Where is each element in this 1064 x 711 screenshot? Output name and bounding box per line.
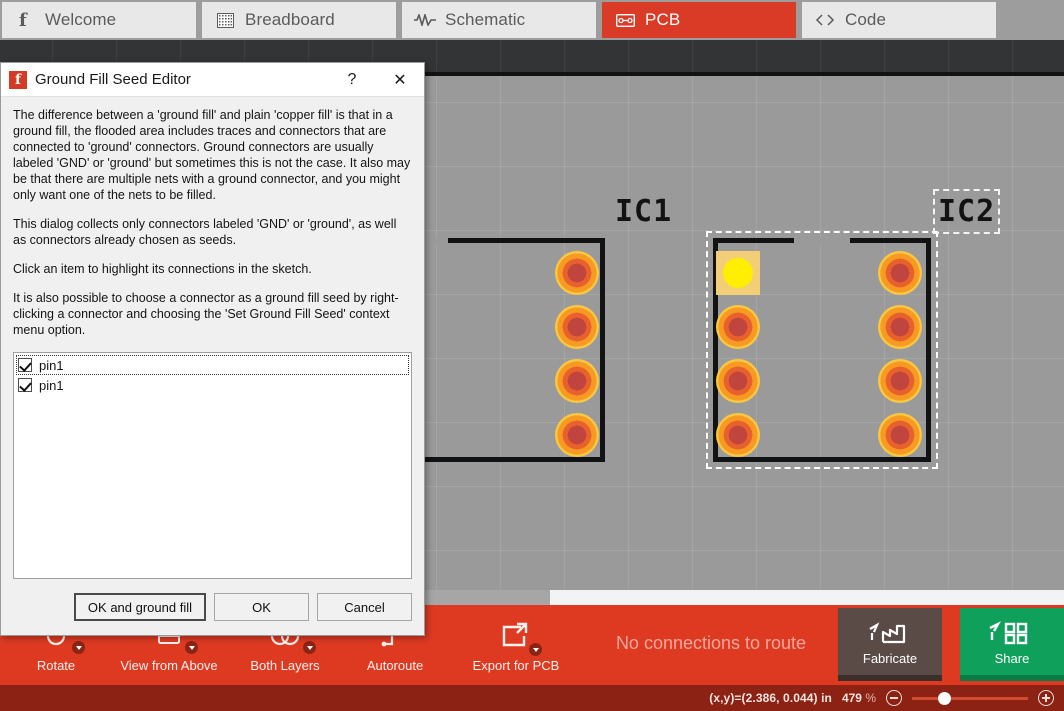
fabricate-button[interactable]: Fabricate	[838, 608, 942, 681]
zoom-slider[interactable]	[912, 690, 1028, 706]
ic2-pad-6[interactable]	[878, 305, 922, 349]
seed-checkbox[interactable]	[18, 358, 32, 372]
ic2-pad-4[interactable]	[716, 413, 760, 457]
tab-breadboard-label: Breadboard	[245, 10, 335, 30]
status-bar: (x,y)=(2.386, 0.044) in 479 %	[0, 685, 1064, 711]
code-angle-brackets-icon	[814, 11, 836, 29]
tab-schematic[interactable]: Schematic	[402, 2, 596, 38]
share-icon	[988, 615, 1036, 651]
dialog-paragraph-1: The difference between a 'ground fill' a…	[13, 107, 412, 203]
cancel-button[interactable]: Cancel	[317, 593, 412, 621]
share-label: Share	[995, 651, 1030, 666]
fabricate-label: Fabricate	[863, 651, 917, 666]
tool-rotate-label: Rotate	[37, 658, 75, 673]
part-ic2-label[interactable]: IC2	[938, 194, 995, 229]
seed-checkbox[interactable]	[18, 378, 32, 392]
breadboard-icon	[214, 11, 236, 29]
tab-pcb-label: PCB	[645, 10, 680, 30]
zoom-level: 479 %	[842, 691, 876, 705]
ic2-pad-7[interactable]	[878, 359, 922, 403]
schematic-waveform-icon	[414, 11, 436, 29]
ground-fill-seed-list[interactable]: pin1 pin1	[13, 352, 412, 579]
list-item[interactable]: pin1	[16, 355, 409, 375]
zoom-slider-knob[interactable]	[938, 692, 951, 705]
list-item[interactable]: pin1	[16, 375, 409, 395]
ok-button[interactable]: OK	[214, 593, 309, 621]
dialog-paragraph-3: Click an item to highlight its connectio…	[13, 261, 412, 277]
ic2-pad-1[interactable]	[716, 251, 760, 295]
dialog-title: Ground Fill Seed Editor	[35, 71, 324, 88]
dialog-button-row: OK and ground fill OK Cancel	[1, 579, 424, 635]
both-layers-caret-icon[interactable]	[303, 641, 316, 654]
tool-view-from-above-label: View from Above	[120, 658, 217, 673]
ic2-pad-5[interactable]	[878, 251, 922, 295]
dialog-body: The difference between a 'ground fill' a…	[1, 97, 424, 579]
svg-text:f: f	[19, 10, 28, 30]
tab-code-label: Code	[845, 10, 886, 30]
tab-code[interactable]: Code	[802, 2, 996, 38]
rotate-caret-icon[interactable]	[72, 641, 85, 654]
tab-welcome-label: Welcome	[45, 10, 116, 30]
seed-label: pin1	[39, 378, 64, 393]
fritzing-main-window: f Welcome Breadboard Schematic	[0, 0, 1064, 711]
tab-schematic-label: Schematic	[445, 10, 525, 30]
tool-export-for-pcb[interactable]: Export for PCB	[457, 609, 575, 681]
ok-and-ground-fill-button[interactable]: OK and ground fill	[74, 593, 206, 621]
dialog-paragraph-2: This dialog collects only connectors lab…	[13, 216, 412, 248]
fabricate-icon	[868, 615, 912, 651]
fritzing-logo-icon: f	[14, 11, 36, 29]
fritzing-app-icon: f	[9, 71, 27, 89]
export-icon	[498, 616, 534, 656]
help-button[interactable]: ?	[332, 65, 372, 95]
route-status-text: No connections to route	[596, 633, 826, 654]
ic1-pad-7[interactable]	[555, 359, 599, 403]
tab-breadboard[interactable]: Breadboard	[202, 2, 396, 38]
tool-both-layers-label: Both Layers	[250, 658, 319, 673]
export-caret-icon[interactable]	[529, 643, 542, 656]
view-from-above-caret-icon[interactable]	[185, 641, 198, 654]
zoom-level-unit: %	[865, 691, 876, 705]
cursor-coordinates: (x,y)=(2.386, 0.044) in	[709, 691, 832, 705]
ic2-notch	[794, 238, 850, 244]
ic1-pad-5[interactable]	[555, 251, 599, 295]
part-ic1-label[interactable]: IC1	[615, 194, 672, 229]
pcb-icon	[614, 11, 636, 29]
zoom-out-icon[interactable]	[886, 690, 902, 706]
dialog-paragraph-4: It is also possible to choose a connecto…	[13, 290, 412, 338]
ic1-pad-6[interactable]	[555, 305, 599, 349]
tab-pcb[interactable]: PCB	[602, 2, 796, 38]
ic2-pad-3[interactable]	[716, 359, 760, 403]
view-tab-bar: f Welcome Breadboard Schematic	[0, 0, 1064, 40]
tool-export-for-pcb-label: Export for PCB	[473, 658, 560, 673]
share-button[interactable]: Share	[960, 608, 1064, 681]
ic1-pad-8[interactable]	[555, 413, 599, 457]
zoom-slider-track	[912, 697, 1028, 700]
seed-label: pin1	[39, 358, 64, 373]
close-icon[interactable]: ✕	[380, 65, 420, 95]
tool-autoroute-label: Autoroute	[367, 658, 423, 673]
dialog-title-bar[interactable]: f Ground Fill Seed Editor ? ✕	[1, 63, 424, 97]
ic2-pad-8[interactable]	[878, 413, 922, 457]
tab-welcome[interactable]: f Welcome	[2, 2, 196, 38]
ic2-pad-2[interactable]	[716, 305, 760, 349]
zoom-in-icon[interactable]	[1038, 690, 1054, 706]
ground-fill-seed-editor-dialog[interactable]: f Ground Fill Seed Editor ? ✕ The differ…	[0, 62, 425, 636]
zoom-level-value: 479	[842, 691, 862, 705]
